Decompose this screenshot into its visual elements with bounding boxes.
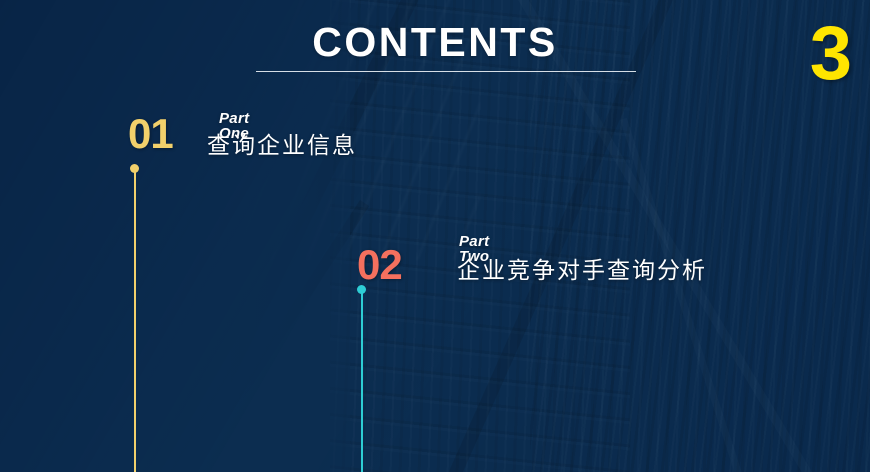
toc-entry-one-connector-line <box>134 170 136 472</box>
toc-entry-two-connector-line <box>361 291 363 472</box>
toc-entry-one-number: 01 <box>128 113 173 155</box>
toc-entry-one-heading: 查询企业信息 <box>207 134 357 157</box>
toc-entry-two-number: 02 <box>357 244 402 286</box>
title-divider <box>256 71 636 72</box>
contents-slide: CONTENTS 3 01 Part One 查询企业信息 02 Part Tw… <box>0 0 870 472</box>
toc-entry-two-heading: 企业竞争对手查询分析 <box>457 259 707 282</box>
page-title: CONTENTS <box>312 22 558 63</box>
slide-number: 3 <box>810 16 852 92</box>
title-block: CONTENTS <box>0 22 870 63</box>
